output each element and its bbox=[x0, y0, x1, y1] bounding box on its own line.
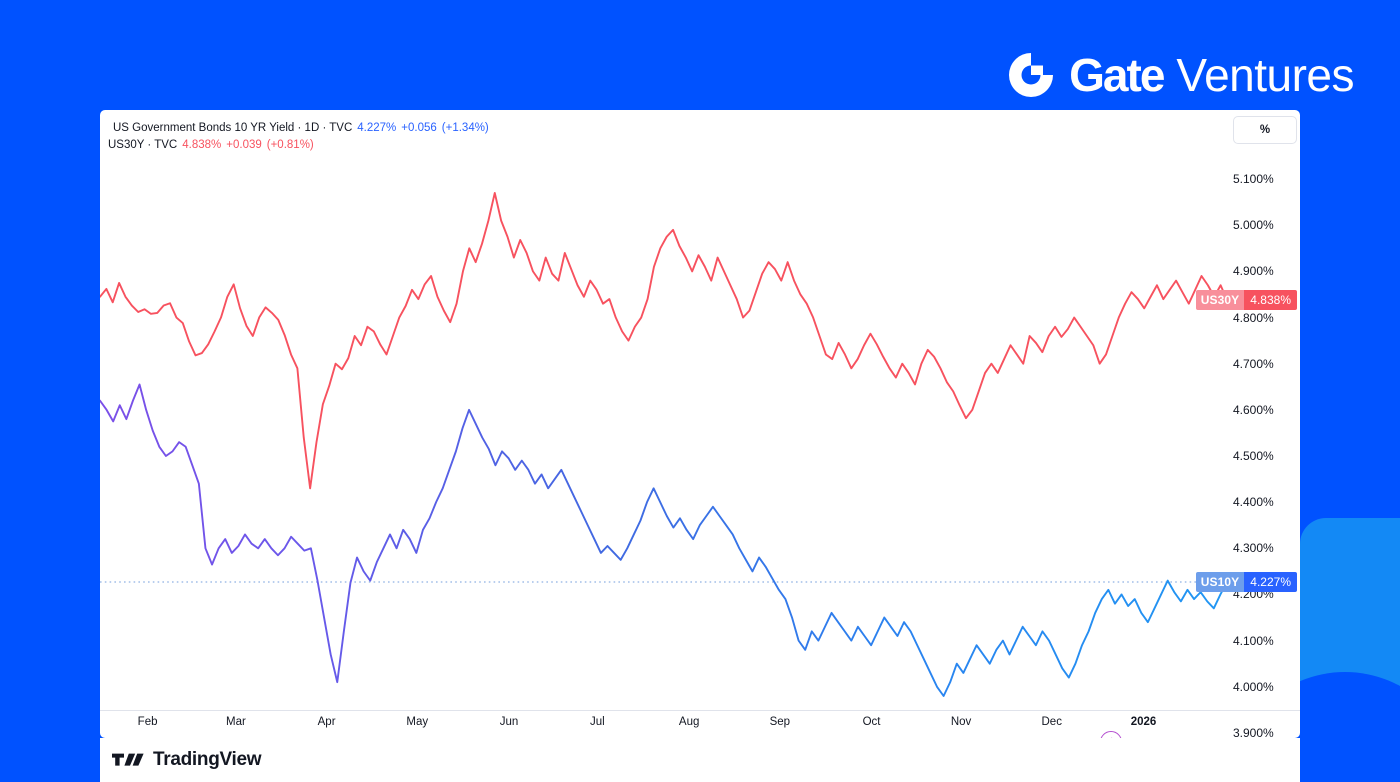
brand-wordmark: Gate Ventures bbox=[1069, 52, 1354, 98]
tradingview-mark-icon bbox=[112, 752, 144, 768]
x-axis-tick: 2026 bbox=[1131, 716, 1157, 728]
y-axis-tick: 5.000% bbox=[1233, 218, 1297, 232]
brand-logo: Gate Ventures bbox=[1006, 46, 1354, 104]
tradingview-label: TradingView bbox=[153, 749, 261, 771]
gate-circle-logo-icon bbox=[1006, 50, 1056, 100]
plot-area[interactable] bbox=[100, 156, 1233, 782]
legend-change-us10y: +0.056 bbox=[401, 120, 437, 137]
x-axis-tick: Feb bbox=[138, 716, 158, 728]
legend-change-pct-us10y: (+1.34%) bbox=[442, 120, 489, 137]
price-tag-symbol-us10y: US10Y bbox=[1196, 572, 1245, 592]
legend-title-us30y: US30Y · TVC bbox=[108, 137, 177, 154]
brand-name-secondary: Ventures bbox=[1176, 52, 1354, 98]
y-axis[interactable]: 5.100%5.000%4.900%4.800%4.700%4.600%4.50… bbox=[1233, 156, 1297, 756]
y-axis-tick: 4.400% bbox=[1233, 495, 1297, 509]
x-axis-separator bbox=[100, 710, 1300, 711]
legend-change-pct-us30y: (+0.81%) bbox=[267, 137, 314, 154]
tradingview-logo-icon[interactable]: TradingView bbox=[108, 749, 261, 771]
scale-selector-label: % bbox=[1260, 124, 1270, 136]
price-tag-us10y[interactable]: US10Y 4.227% bbox=[1196, 572, 1297, 592]
y-axis-tick: 4.900% bbox=[1233, 264, 1297, 278]
y-axis-tick: 4.500% bbox=[1233, 449, 1297, 463]
legend-last-us30y: 4.838% bbox=[182, 137, 221, 154]
y-axis-tick: 5.100% bbox=[1233, 172, 1297, 186]
y-axis-tick: 4.800% bbox=[1233, 311, 1297, 325]
chart-footer: TradingView bbox=[100, 738, 1300, 782]
x-axis-tick: Oct bbox=[863, 716, 881, 728]
legend-title-us10y: US Government Bonds 10 YR Yield · 1D · T… bbox=[113, 120, 352, 137]
y-axis-tick: 4.300% bbox=[1233, 541, 1297, 555]
x-axis-tick: Aug bbox=[679, 716, 699, 728]
background-accent-shape bbox=[1300, 518, 1400, 782]
x-axis-tick: May bbox=[406, 716, 428, 728]
y-axis-tick: 4.000% bbox=[1233, 680, 1297, 694]
y-axis-tick: 4.700% bbox=[1233, 357, 1297, 371]
legend-row-us30y[interactable]: US30Y · TVC 4.838% +0.039 (+0.81%) bbox=[108, 137, 489, 154]
x-axis-tick: Mar bbox=[226, 716, 246, 728]
series-line-us30y bbox=[100, 193, 1227, 488]
x-axis-tick: Jun bbox=[500, 716, 519, 728]
brand-name-primary: Gate bbox=[1069, 52, 1163, 98]
legend-change-us30y: +0.039 bbox=[226, 137, 262, 154]
x-axis-tick: Sep bbox=[770, 716, 790, 728]
chart-svg bbox=[100, 156, 1233, 756]
x-axis-tick: Apr bbox=[318, 716, 336, 728]
x-axis-tick: Nov bbox=[951, 716, 971, 728]
chart-panel: US Government Bonds 10 YR Yield · 1D · T… bbox=[100, 110, 1300, 738]
chart-legend: US Government Bonds 10 YR Yield · 1D · T… bbox=[108, 120, 489, 153]
price-tag-symbol-us30y: US30Y bbox=[1196, 290, 1245, 310]
scale-selector-button[interactable]: % bbox=[1233, 116, 1297, 144]
series-line-us10y bbox=[100, 384, 1227, 696]
x-axis-tick: Dec bbox=[1041, 716, 1061, 728]
y-axis-tick: 4.100% bbox=[1233, 634, 1297, 648]
price-tag-value-us10y: 4.227% bbox=[1244, 572, 1297, 592]
x-axis-tick: Jul bbox=[590, 716, 605, 728]
price-tag-value-us30y: 4.838% bbox=[1244, 290, 1297, 310]
price-tag-us30y[interactable]: US30Y 4.838% bbox=[1196, 290, 1297, 310]
legend-row-us10y[interactable]: US Government Bonds 10 YR Yield · 1D · T… bbox=[108, 120, 489, 137]
y-axis-tick: 4.600% bbox=[1233, 403, 1297, 417]
legend-last-us10y: 4.227% bbox=[357, 120, 396, 137]
